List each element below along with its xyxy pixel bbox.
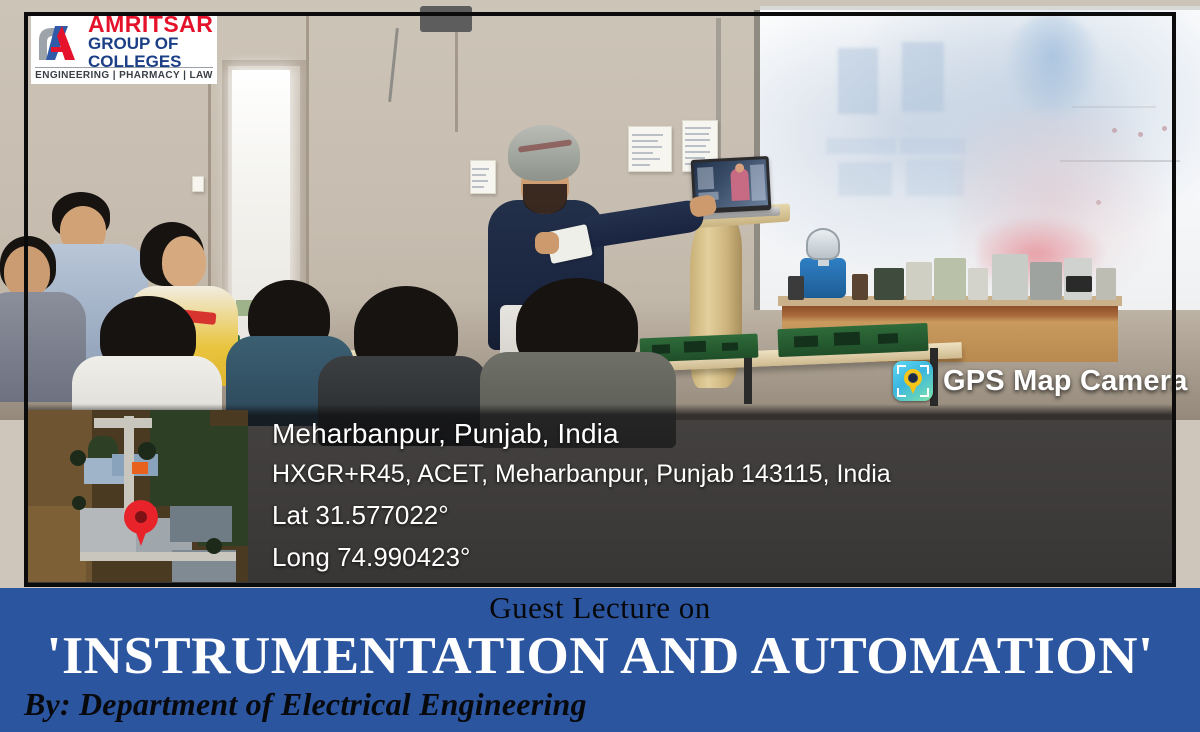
gps-map-camera-badge: GPS Map Camera — [893, 361, 1188, 401]
banner-credit: By: Department of Electrical Engineering — [24, 686, 587, 723]
gps-text-block: Meharbanpur, Punjab, India HXGR+R45, ACE… — [272, 414, 891, 578]
gps-map-camera-icon — [893, 361, 933, 401]
gps-map-thumbnail — [28, 410, 248, 582]
instrument-module — [852, 274, 868, 300]
instrument-module — [788, 276, 804, 300]
wall-notice — [192, 176, 204, 192]
logo-main-row: AMRITSAR GROUP OF COLLEGES — [35, 19, 213, 65]
poster-root: AMRITSAR GROUP OF COLLEGES ENGINEERING |… — [0, 0, 1200, 732]
gps-map-camera-label: GPS Map Camera — [943, 365, 1188, 398]
logo-line-2: GROUP OF COLLEGES — [88, 35, 213, 71]
event-photo: AMRITSAR GROUP OF COLLEGES ENGINEERING |… — [0, 0, 1200, 588]
wall-notice — [470, 160, 496, 194]
college-logo: AMRITSAR GROUP OF COLLEGES ENGINEERING |… — [31, 16, 217, 84]
wall-seam — [306, 12, 309, 312]
event-banner: Guest Lecture on 'INSTRUMENTATION AND AU… — [0, 588, 1200, 732]
instrument-module — [934, 258, 966, 300]
instrument-module — [1096, 268, 1116, 300]
map-pin-icon — [124, 500, 158, 546]
instrument-module — [906, 262, 932, 300]
logo-subtitle: ENGINEERING | PHARMACY | LAW — [35, 67, 213, 81]
gps-longitude: Long 74.990423° — [272, 536, 891, 578]
speaker-hand — [535, 232, 559, 254]
speaker-turban — [508, 125, 580, 181]
wall-notice — [628, 126, 672, 172]
gps-latitude: Lat 31.577022° — [272, 494, 891, 536]
banner-title: 'INSTRUMENTATION AND AUTOMATION' — [0, 626, 1200, 686]
instrument-module — [874, 268, 904, 300]
instrument-module — [992, 254, 1028, 300]
instrument-module — [968, 268, 988, 300]
logo-wordmark: AMRITSAR GROUP OF COLLEGES — [88, 13, 213, 71]
gps-place: Meharbanpur, Punjab, India — [272, 414, 891, 454]
flow-meter-display — [806, 228, 840, 260]
screen-projected-figure — [1005, 14, 1101, 122]
logo-line-1: AMRITSAR — [88, 13, 213, 35]
ceiling-duct — [420, 6, 472, 32]
gps-address: HXGR+R45, ACET, Meharbanpur, Punjab 1431… — [272, 454, 891, 494]
triangle-a-monogram-icon — [35, 20, 85, 64]
instrument-module — [1030, 262, 1062, 300]
banner-subtitle: Guest Lecture on — [0, 590, 1200, 626]
instrument-display — [1066, 276, 1092, 292]
table-leg — [744, 356, 752, 404]
speaker-beard — [523, 184, 567, 214]
